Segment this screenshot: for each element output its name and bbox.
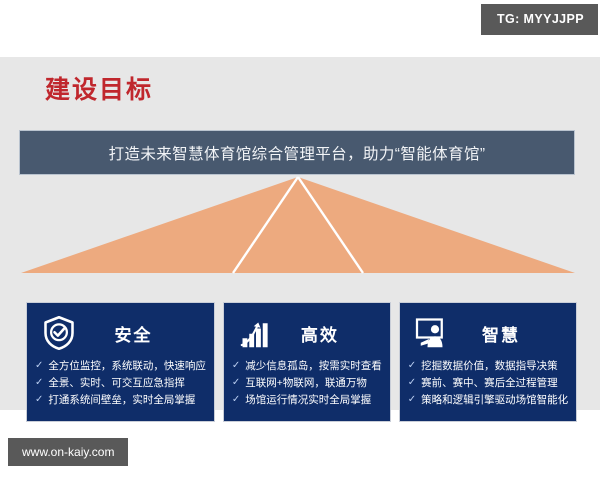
pillar-card-header: 智慧 bbox=[408, 312, 568, 354]
list-item-text: 场馆运行情况实时全局掌握 bbox=[245, 392, 371, 409]
list-item: ✓互联网+物联网，联通万物 bbox=[232, 375, 382, 392]
pillar-bullet-list: ✓全方位监控，系统联动，快速响应 ✓全景、实时、可交互应急指挥 ✓打通系统间壁垒… bbox=[35, 358, 206, 409]
pillar-card-efficiency[interactable]: 高效 ✓减少信息孤岛，按需实时查看 ✓互联网+物联网，联通万物 ✓场馆运行情况实… bbox=[223, 302, 391, 422]
roof-divider-right bbox=[298, 177, 363, 273]
telegram-watermark-badge: TG: MYYJJPP bbox=[481, 4, 598, 35]
list-item-text: 策略和逻辑引擎驱动场馆智能化 bbox=[421, 392, 568, 409]
page-title: 建设目标 bbox=[45, 78, 153, 103]
list-item: ✓场馆运行情况实时全局掌握 bbox=[232, 392, 382, 409]
roof-triangle-graphic bbox=[19, 175, 577, 275]
list-item-text: 挖掘数据价值，数据指导决策 bbox=[421, 358, 558, 375]
pillar-card-header: 高效 bbox=[232, 312, 382, 354]
slide-canvas: 建设目标 打造未来智慧体育馆综合管理平台，助力“智能体育馆” 安全 ✓全方位监控… bbox=[0, 57, 600, 410]
pillar-card-title: 智慧 bbox=[450, 321, 568, 346]
check-icon: ✓ bbox=[408, 358, 416, 374]
list-item: ✓打通系统间壁垒，实时全局掌握 bbox=[35, 392, 206, 409]
check-icon: ✓ bbox=[35, 392, 43, 408]
headline-banner-text: 打造未来智慧体育馆综合管理平台，助力“智能体育馆” bbox=[109, 142, 486, 164]
list-item-text: 减少信息孤岛，按需实时查看 bbox=[245, 358, 382, 375]
site-watermark-badge: www.on-kaiy.com bbox=[8, 438, 128, 466]
pillar-card-header: 安全 bbox=[35, 312, 206, 354]
list-item-text: 全景、实时、可交互应急指挥 bbox=[48, 375, 185, 392]
list-item-text: 互联网+物联网，联通万物 bbox=[245, 375, 367, 392]
list-item: ✓策略和逻辑引擎驱动场馆智能化 bbox=[408, 392, 568, 409]
pillar-card-group: 安全 ✓全方位监控，系统联动，快速响应 ✓全景、实时、可交互应急指挥 ✓打通系统… bbox=[26, 302, 572, 422]
list-item: ✓减少信息孤岛，按需实时查看 bbox=[232, 358, 382, 375]
bar-chart-growth-icon bbox=[238, 315, 274, 351]
shield-check-icon bbox=[41, 315, 77, 351]
pillar-card-title: 高效 bbox=[274, 321, 382, 346]
presenter-board-icon bbox=[414, 315, 450, 351]
pillar-bullet-list: ✓挖掘数据价值，数据指导决策 ✓赛前、赛中、赛后全过程管理 ✓策略和逻辑引擎驱动… bbox=[408, 358, 568, 409]
pillar-card-intelligence[interactable]: 智慧 ✓挖掘数据价值，数据指导决策 ✓赛前、赛中、赛后全过程管理 ✓策略和逻辑引… bbox=[399, 302, 577, 422]
pillar-card-security[interactable]: 安全 ✓全方位监控，系统联动，快速响应 ✓全景、实时、可交互应急指挥 ✓打通系统… bbox=[26, 302, 215, 422]
list-item: ✓赛前、赛中、赛后全过程管理 bbox=[408, 375, 568, 392]
list-item: ✓挖掘数据价值，数据指导决策 bbox=[408, 358, 568, 375]
pillar-bullet-list: ✓减少信息孤岛，按需实时查看 ✓互联网+物联网，联通万物 ✓场馆运行情况实时全局… bbox=[232, 358, 382, 409]
roof-divider-left bbox=[233, 177, 298, 273]
pillar-card-title: 安全 bbox=[77, 321, 206, 346]
list-item-text: 赛前、赛中、赛后全过程管理 bbox=[421, 375, 558, 392]
list-item-text: 全方位监控，系统联动，快速响应 bbox=[48, 358, 206, 375]
list-item: ✓全方位监控，系统联动，快速响应 bbox=[35, 358, 206, 375]
roof-fill bbox=[21, 177, 575, 273]
check-icon: ✓ bbox=[232, 375, 240, 391]
list-item-text: 打通系统间壁垒，实时全局掌握 bbox=[48, 392, 195, 409]
list-item: ✓全景、实时、可交互应急指挥 bbox=[35, 375, 206, 392]
check-icon: ✓ bbox=[35, 375, 43, 391]
check-icon: ✓ bbox=[35, 358, 43, 374]
check-icon: ✓ bbox=[408, 392, 416, 408]
check-icon: ✓ bbox=[408, 375, 416, 391]
check-icon: ✓ bbox=[232, 358, 240, 374]
headline-banner: 打造未来智慧体育馆综合管理平台，助力“智能体育馆” bbox=[19, 130, 575, 175]
check-icon: ✓ bbox=[232, 392, 240, 408]
